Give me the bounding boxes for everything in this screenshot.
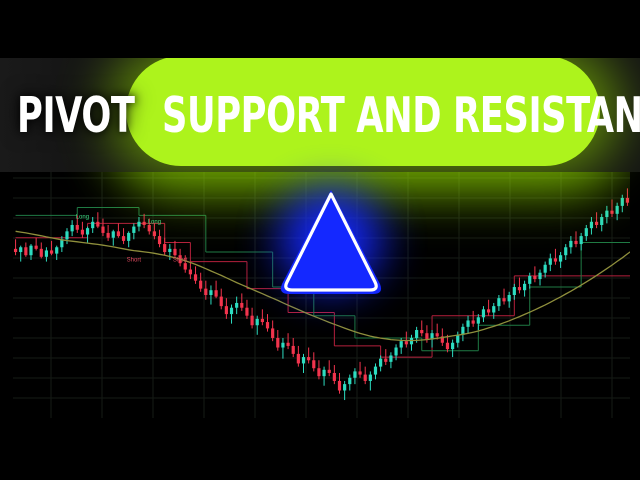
play-triangle-svg xyxy=(272,176,390,304)
title-part-one: PIVOT xyxy=(17,91,135,140)
title-row: PIVOT SUPPORT AND RESISTANCE xyxy=(0,58,640,172)
signal-label-short: Short xyxy=(173,258,188,264)
title-part-two: SUPPORT AND RESISTANCE xyxy=(162,91,640,140)
signal-label-long: Long xyxy=(76,215,89,221)
play-triangle-fill xyxy=(281,190,381,294)
signal-label-short: Short xyxy=(127,258,142,264)
letterbox-bottom xyxy=(0,418,640,480)
letterbox-top xyxy=(0,0,640,58)
signal-label-long: Long xyxy=(148,219,161,225)
play-triangle-icon[interactable] xyxy=(272,176,390,304)
video-thumbnail: PIVOT SUPPORT AND RESISTANCE LongLongSho… xyxy=(0,0,640,480)
